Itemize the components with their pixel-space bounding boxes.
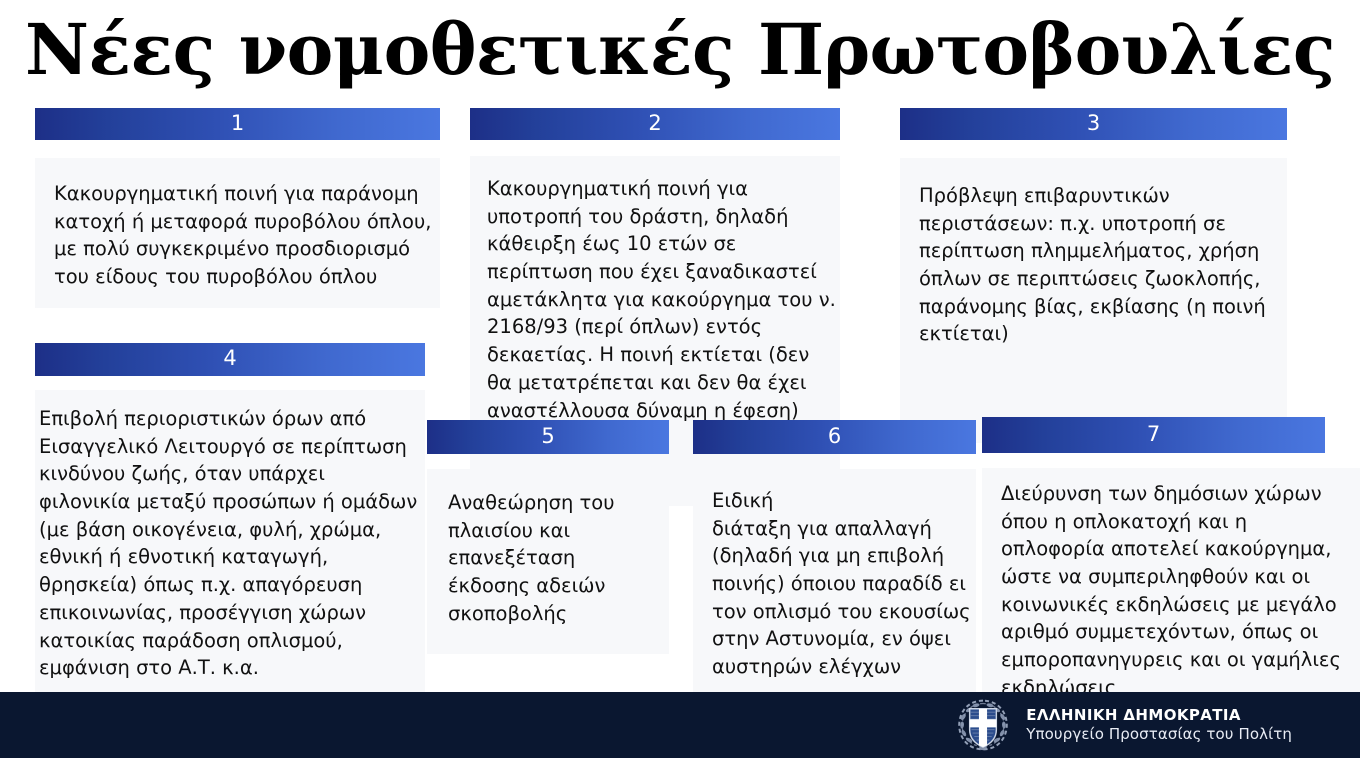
footer-ministry-label: Υπουργείο Προστασίας του Πολίτη (1026, 725, 1292, 745)
footer-bottom-strip (0, 758, 1360, 765)
card-5-text: Αναθεώρηση του πλαισίου και επανεξέταση … (427, 469, 669, 654)
card-7-number: 7 (982, 417, 1325, 453)
card-4-number: 4 (35, 343, 425, 376)
footer-text-block: ΕΛΛΗΝΙΚΗ ΔΗΜΟΚΡΑΤΙΑ Υπουργείο Προστασίας… (1026, 706, 1292, 744)
footer-branding: ΕΛΛΗΝΙΚΗ ΔΗΜΟΚΡΑΤΙΑ Υπουργείο Προστασίας… (954, 692, 1292, 758)
card-4-text: Επιβολή περιοριστικών όρων από Εισαγγελι… (35, 390, 425, 740)
card-6-text: Ειδική διάταξη για απαλλαγή (δηλαδή για … (693, 469, 976, 694)
footer-country-label: ΕΛΛΗΝΙΚΗ ΔΗΜΟΚΡΑΤΙΑ (1026, 706, 1292, 725)
greek-coat-of-arms-icon (954, 696, 1012, 754)
slide-footer: ΕΛΛΗΝΙΚΗ ΔΗΜΟΚΡΑΤΙΑ Υπουργείο Προστασίας… (0, 692, 1360, 758)
card-2-number: 2 (470, 108, 840, 140)
card-3-text: Πρόβλεψη επιβαρυντικών περιστάσεων: π.χ.… (900, 158, 1287, 443)
card-3-number: 3 (900, 108, 1287, 140)
slide-canvas: Νέες νομοθετικές Πρωτοβουλίες 1 Κακουργη… (0, 0, 1360, 765)
card-1-number: 1 (35, 108, 440, 140)
slide-title: Νέες νομοθετικές Πρωτοβουλίες (0, 2, 1360, 98)
card-5-number: 5 (427, 420, 669, 454)
card-1-text: Κακουργηματική ποινή για παράνομη κατοχή… (35, 158, 440, 308)
card-7-text: Διεύρυνση των δημόσιων χώρων όπου η οπλο… (982, 468, 1360, 704)
card-6-number: 6 (693, 420, 976, 454)
